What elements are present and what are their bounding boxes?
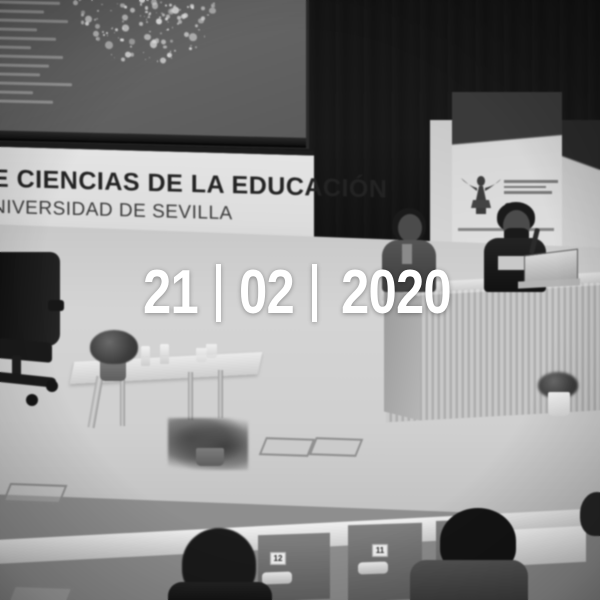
seat-number-label: 11 [372,544,388,557]
coffee-table-leg [218,370,223,418]
office-chair-caster [26,394,38,406]
conference-photo: E CIENCIAS DE LA EDUCACIÓN NIVERSIDAD DE… [0,0,600,600]
office-chair-armrest [48,300,64,311]
desk-front-plant-pot [548,392,570,416]
slide-dot-network-graphic [64,0,224,76]
speaker-man-shirt-graphic [498,256,524,270]
audience-person-jacket [410,560,528,600]
floor-outlet-box [6,585,73,600]
water-bottle [141,346,150,366]
speaker-woman-head [398,214,422,242]
seat-handle [262,571,292,584]
coffee-table-leg [188,372,193,420]
projection-screen [0,0,306,146]
speaker-woman-collar [402,244,412,264]
speakers-desk-side-panel [384,288,420,421]
banner-crest-icon [460,170,502,218]
floor-outlet-box [259,437,316,457]
floor-outlet-box [3,483,68,504]
banner-text-lines [504,180,558,197]
floor-outlet-box [309,437,364,457]
floor-fern-pot [196,448,224,466]
drinking-glass [206,344,217,358]
audience-person-shoulders [168,582,272,600]
office-chair-caster [46,380,58,392]
table-plant-foliage [90,330,138,364]
seat-number-label: 12 [270,552,286,565]
seat-handle [358,561,388,574]
water-bottle [160,344,169,364]
coffee-table-leg [120,378,125,426]
office-chair-backrest [0,252,60,346]
